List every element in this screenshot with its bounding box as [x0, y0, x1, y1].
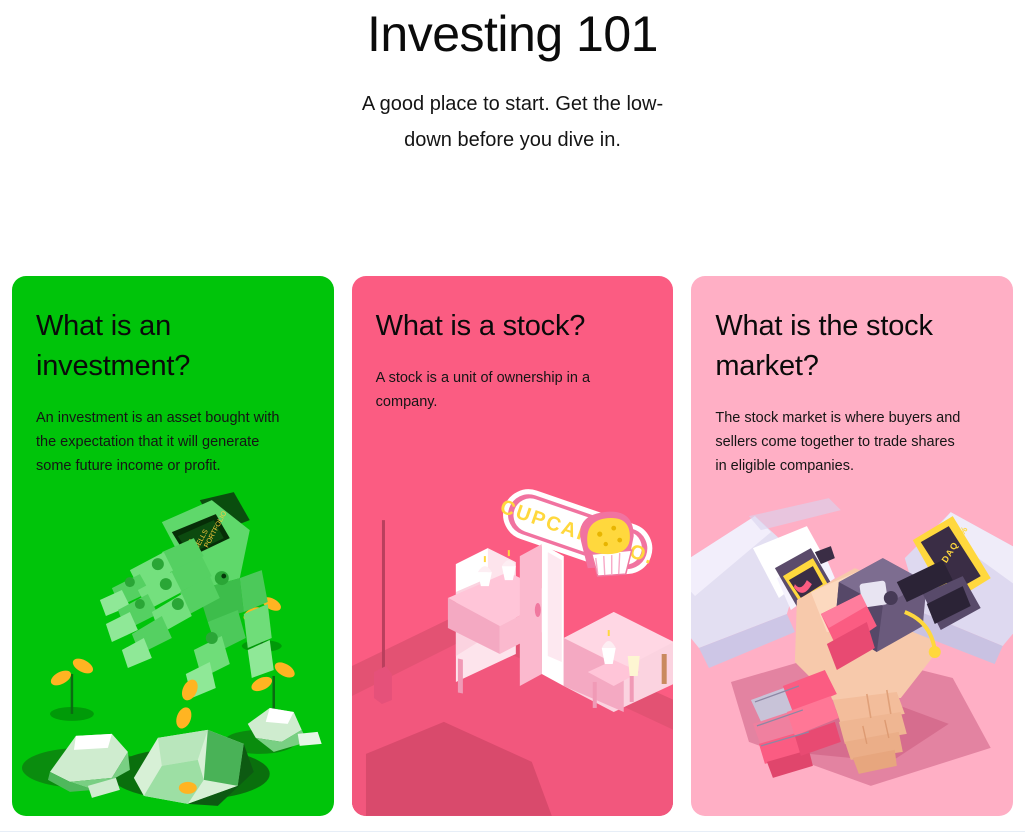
human-robot-handshake-illustration: NASDAQ 4% [691, 486, 1013, 816]
bottom-divider [0, 831, 1025, 832]
card-body-text: An investment is an asset bought with th… [36, 406, 284, 478]
robotic-hand-planting-seeds-illustration: W/B SELLS PORTFOLIO [12, 486, 334, 816]
card-heading: What is a stock? [376, 306, 650, 346]
card-heading: What is the stock market? [715, 306, 989, 386]
card-body-text: The stock market is where buyers and sel… [715, 406, 963, 478]
card-body-text: A stock is a unit of ownership in a comp… [376, 366, 624, 414]
card-what-is-the-stock-market[interactable]: What is the stock market? The stock mark… [691, 276, 1013, 816]
investing-101-page: Investing 101 A good place to start. Get… [0, 0, 1025, 837]
cupcake-shop-illustration: CUPCAKE CO. [352, 486, 674, 816]
card-heading: What is an investment? [36, 306, 310, 386]
card-what-is-an-investment[interactable]: What is an investment? An investment is … [12, 276, 334, 816]
page-title: Investing 101 [0, 2, 1025, 66]
page-subtitle: A good place to start. Get the low-down … [348, 86, 678, 158]
card-what-is-a-stock[interactable]: What is a stock? A stock is a unit of ow… [352, 276, 674, 816]
topic-card-grid: What is an investment? An investment is … [12, 276, 1013, 816]
hero-section: Investing 101 A good place to start. Get… [0, 0, 1025, 158]
